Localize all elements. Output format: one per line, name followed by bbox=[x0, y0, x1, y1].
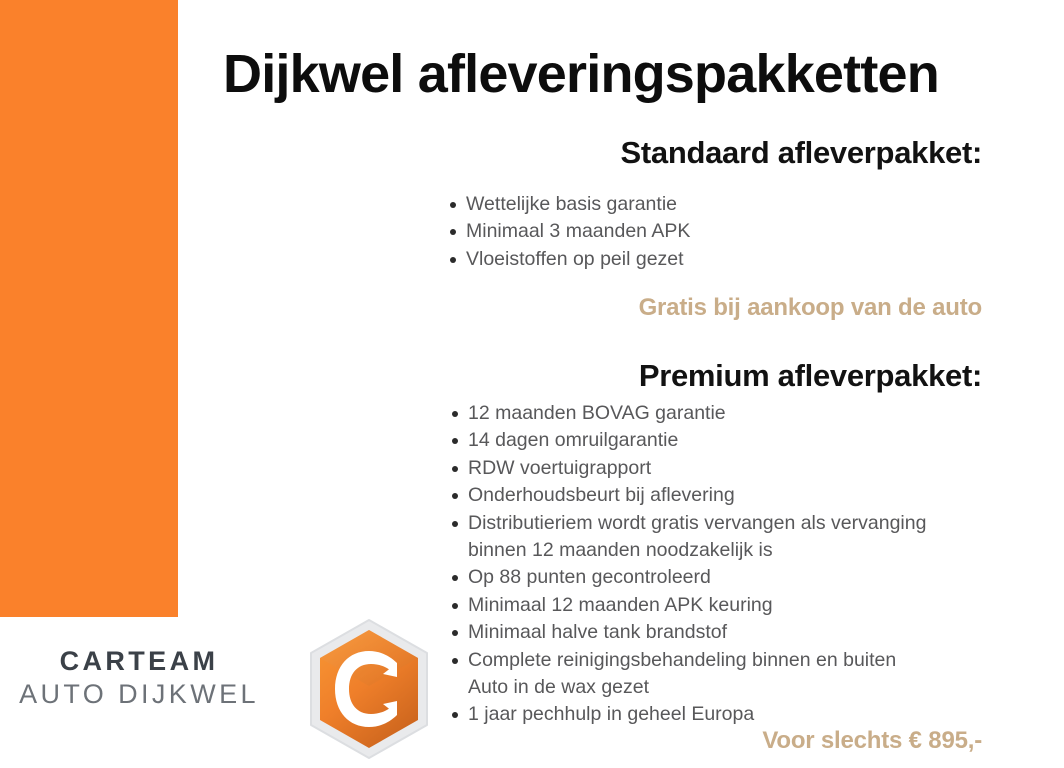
list-item: Wettelijke basis garantie bbox=[446, 191, 966, 218]
standaard-section-heading: Standaard afleverpakket: bbox=[620, 135, 982, 171]
premium-section-heading: Premium afleverpakket: bbox=[639, 358, 982, 394]
list-item: Onderhoudsbeurt bij aflevering bbox=[448, 482, 988, 509]
brand-name-primary: CARTEAM bbox=[8, 645, 270, 678]
list-item: Minimaal 12 maanden APK keuring bbox=[448, 592, 988, 619]
list-item-label: Onderhoudsbeurt bij aflevering bbox=[468, 484, 735, 506]
list-item-label: Wettelijke basis garantie bbox=[466, 193, 677, 215]
poster-canvas: Dijkwel afleveringspakketten Standaard a… bbox=[0, 0, 1064, 768]
standaard-feature-list: Wettelijke basis garantie Minimaal 3 maa… bbox=[446, 191, 966, 273]
list-item-label: 12 maanden BOVAG garantie bbox=[468, 402, 726, 424]
list-item-label: Vloeistoffen op peil gezet bbox=[466, 248, 684, 270]
list-item-label: 1 jaar pechhulp in geheel Europa bbox=[468, 703, 754, 725]
list-item: Minimaal 3 maanden APK bbox=[446, 218, 966, 245]
list-item: 12 maanden BOVAG garantie bbox=[448, 400, 988, 427]
list-item: Op 88 punten gecontroleerd bbox=[448, 564, 988, 591]
list-item: Distributieriem wordt gratis vervangen a… bbox=[448, 510, 988, 565]
list-item-continuation: Auto in de wax gezet bbox=[468, 674, 988, 701]
list-item-label: Minimaal 12 maanden APK keuring bbox=[468, 594, 773, 616]
list-item-label: Complete reinigingsbehandeling binnen en… bbox=[468, 649, 896, 671]
list-item-label: 14 dagen omruilgarantie bbox=[468, 429, 678, 451]
premium-feature-list: 12 maanden BOVAG garantie 14 dagen omrui… bbox=[448, 400, 988, 729]
list-item-label: RDW voertuigrapport bbox=[468, 457, 651, 479]
list-item-label: Minimaal halve tank brandstof bbox=[468, 621, 727, 643]
brand-name-secondary: AUTO DIJKWEL bbox=[8, 678, 270, 711]
brand-lockup: CARTEAM AUTO DIJKWEL bbox=[8, 645, 270, 711]
list-item-label: Distributieriem wordt gratis vervangen a… bbox=[468, 512, 926, 561]
list-item: 1 jaar pechhulp in geheel Europa bbox=[448, 701, 988, 728]
list-item: Minimaal halve tank brandstof bbox=[448, 619, 988, 646]
premium-price-tagline: Voor slechts € 895,- bbox=[762, 726, 982, 756]
page-title: Dijkwel afleveringspakketten bbox=[180, 44, 982, 104]
list-item: Complete reinigingsbehandeling binnen en… bbox=[448, 647, 988, 702]
orange-accent-band bbox=[0, 0, 178, 617]
list-item-label: Minimaal 3 maanden APK bbox=[466, 220, 690, 242]
carteam-hexagon-c-logo-icon bbox=[305, 617, 433, 761]
list-item: RDW voertuigrapport bbox=[448, 455, 988, 482]
list-item-label: Op 88 punten gecontroleerd bbox=[468, 566, 711, 588]
standaard-tagline: Gratis bij aankoop van de auto bbox=[639, 293, 982, 323]
list-item: 14 dagen omruilgarantie bbox=[448, 427, 988, 454]
list-item: Vloeistoffen op peil gezet bbox=[446, 246, 966, 273]
